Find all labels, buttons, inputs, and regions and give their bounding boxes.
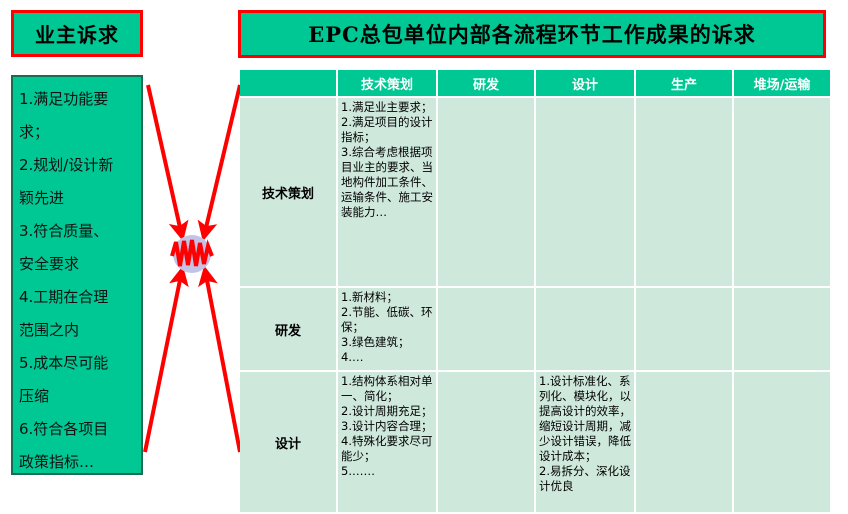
cell-research-research — [438, 288, 534, 370]
cell-planning-production — [636, 98, 732, 286]
table-header-row: 技术策划 研发 设计 生产 堆场/运输 — [240, 70, 830, 96]
table-corner-cell — [240, 70, 336, 96]
column-header-yard-transport: 堆场/运输 — [734, 70, 830, 96]
table-row: 设计 1.结构体系相对单一、简化； 2.设计周期充足； 3.设计内容合理； 4.… — [240, 372, 830, 512]
cell-research-production — [636, 288, 732, 370]
column-header-technical-planning: 技术策划 — [338, 70, 436, 96]
cell-design-design: 1.设计标准化、系列化、模块化，以提高设计的效率，缩短设计周期，减少设计错误，降… — [536, 372, 634, 512]
row-header-technical-planning: 技术策划 — [240, 98, 336, 286]
owner-demand-line: 安全要求 — [19, 248, 137, 281]
owner-demand-line: 求； — [19, 116, 137, 149]
burst-circle-icon — [173, 235, 211, 273]
cell-planning-design — [536, 98, 634, 286]
cell-research-planning: 1.新材料； 2.节能、低碳、环保； 3.绿色建筑； 4.… — [338, 288, 436, 370]
owner-demand-line: 范围之内 — [19, 314, 137, 347]
table-row: 研发 1.新材料； 2.节能、低碳、环保； 3.绿色建筑； 4.… — [240, 288, 830, 370]
owner-demand-line: 颖先进 — [19, 182, 137, 215]
slide-canvas: 业主诉求 1.满足功能要 求； 2.规划/设计新 颖先进 3.符合质量、 安全要… — [0, 0, 848, 491]
cell-design-research — [438, 372, 534, 512]
cell-research-transport — [734, 288, 830, 370]
table-row: 技术策划 1.满足业主要求； 2.满足项目的设计指标； 3.综合考虑根据项目业主… — [240, 98, 830, 286]
arrow-bottom-right-icon — [206, 275, 240, 452]
owner-demand-line: 5.成本尽可能 — [19, 347, 137, 380]
arrow-bottom-left-icon — [145, 275, 181, 452]
owner-demand-line: 3.符合质量、 — [19, 215, 137, 248]
owner-demand-line: 政策指标… — [19, 446, 137, 479]
owner-demand-line: 6.符合各项目 — [19, 413, 137, 446]
epc-title: EPC总包单位内部各流程环节工作成果的诉求 — [308, 19, 756, 49]
cell-design-planning: 1.结构体系相对单一、简化； 2.设计周期充足； 3.设计内容合理； 4.特殊化… — [338, 372, 436, 512]
cell-design-production — [636, 372, 732, 512]
owner-demand-line: 4.工期在合理 — [19, 281, 137, 314]
cell-planning-planning: 1.满足业主要求； 2.满足项目的设计指标； 3.综合考虑根据项目业主的要求、当… — [338, 98, 436, 286]
owner-demand-line: 1.满足功能要 — [19, 83, 137, 116]
cell-planning-transport — [734, 98, 830, 286]
owner-demand-line: 压缩 — [19, 380, 137, 413]
arrow-top-left-icon — [148, 85, 181, 232]
row-header-design: 设计 — [240, 372, 336, 512]
owner-demand-title: 业主诉求 — [35, 19, 119, 48]
column-header-design: 设计 — [536, 70, 634, 96]
arrow-top-right-icon — [205, 85, 240, 232]
owner-demand-title-box: 业主诉求 — [11, 10, 143, 57]
row-header-research: 研发 — [240, 288, 336, 370]
column-header-research: 研发 — [438, 70, 534, 96]
column-header-production: 生产 — [636, 70, 732, 96]
cell-design-transport — [734, 372, 830, 512]
cell-planning-research — [438, 98, 534, 286]
owner-demand-list-box: 1.满足功能要 求； 2.规划/设计新 颖先进 3.符合质量、 安全要求 4.工… — [11, 75, 143, 475]
epc-process-matrix-table: 技术策划 研发 设计 生产 堆场/运输 技术策划 1.满足业主要求； 2.满足项… — [238, 68, 832, 514]
cell-research-design — [536, 288, 634, 370]
zigzag-lightning-icon — [172, 240, 212, 266]
epc-title-box: EPC总包单位内部各流程环节工作成果的诉求 — [238, 10, 826, 58]
owner-demand-line: 2.规划/设计新 — [19, 149, 137, 182]
